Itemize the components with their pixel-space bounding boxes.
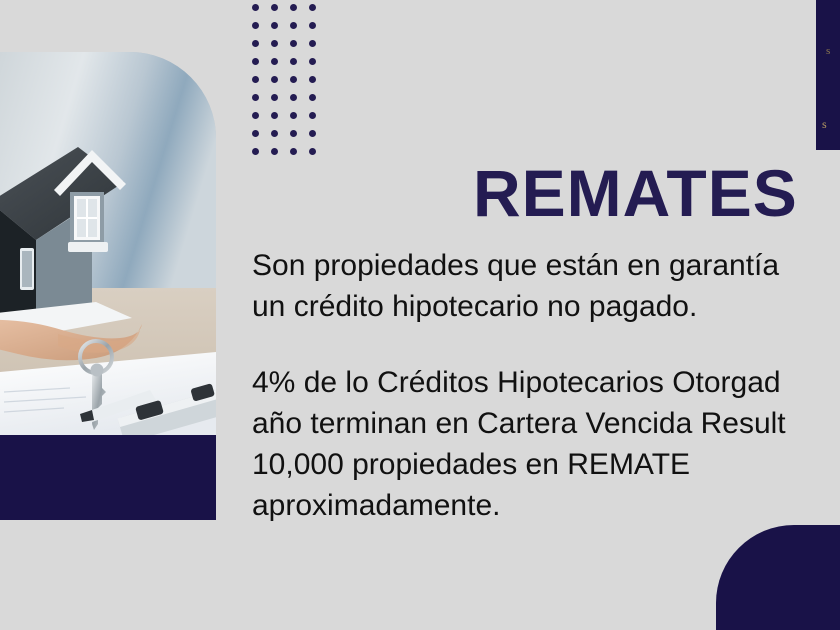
body-line: Son propiedades que están en garantía: [252, 245, 840, 286]
grid-dot: [309, 22, 316, 29]
presentation-slide: s s REMATES Son propiedades que están en…: [0, 0, 840, 630]
grid-dot: [271, 130, 278, 137]
grid-dot: [271, 58, 278, 65]
grid-dot: [290, 58, 297, 65]
grid-dot: [309, 76, 316, 83]
body-line: año terminan en Cartera Vencida Result: [252, 403, 840, 444]
grid-dot: [290, 112, 297, 119]
grid-dot: [290, 22, 297, 29]
grid-dot: [252, 94, 259, 101]
grid-dot: [252, 4, 259, 11]
clipped-gold-mark-top: s: [826, 46, 830, 57]
grid-dot: [271, 94, 278, 101]
clipped-gold-mark-bottom: s: [822, 118, 827, 130]
grid-dot: [252, 112, 259, 119]
grid-dot: [309, 94, 316, 101]
grid-dot: [271, 4, 278, 11]
body-paragraph-definicion: Son propiedades que están en garantíaun …: [252, 245, 840, 327]
grid-dot: [290, 130, 297, 137]
grid-dot: [252, 40, 259, 47]
grid-dot: [290, 94, 297, 101]
grid-dot: [309, 4, 316, 11]
paragraph-spacer: [252, 327, 840, 362]
grid-dot: [290, 76, 297, 83]
dot-grid-decoration: [252, 4, 324, 156]
body-line: un crédito hipotecario no pagado.: [252, 286, 840, 327]
property-photo: [0, 52, 216, 435]
body-paragraph-estadistica: 4% de lo Créditos Hipotecarios Otorgadañ…: [252, 362, 840, 526]
grid-dot: [290, 40, 297, 47]
navy-block-decoration: [0, 435, 216, 520]
grid-dot: [290, 148, 297, 155]
grid-dot: [271, 22, 278, 29]
grid-dot: [252, 22, 259, 29]
grid-dot: [309, 58, 316, 65]
slide-body-text: Son propiedades que están en garantíaun …: [252, 245, 840, 526]
grid-dot: [252, 76, 259, 83]
body-line: 10,000 propiedades en REMATE: [252, 444, 840, 485]
grid-dot: [271, 40, 278, 47]
grid-dot: [309, 130, 316, 137]
body-line: aproximadamente.: [252, 485, 840, 526]
slide-title: REMATES: [473, 160, 798, 226]
body-line: 4% de lo Créditos Hipotecarios Otorgad: [252, 362, 840, 403]
navy-rounded-shape-decoration: [716, 525, 840, 630]
grid-dot: [252, 130, 259, 137]
grid-dot: [252, 58, 259, 65]
property-photo-illustration: [0, 52, 216, 435]
grid-dot: [309, 148, 316, 155]
grid-dot: [271, 148, 278, 155]
grid-dot: [271, 76, 278, 83]
grid-dot: [309, 40, 316, 47]
grid-dot: [252, 148, 259, 155]
grid-dot: [309, 112, 316, 119]
grid-dot: [271, 112, 278, 119]
navy-side-panel-decoration: s s: [816, 0, 840, 150]
grid-dot: [290, 4, 297, 11]
